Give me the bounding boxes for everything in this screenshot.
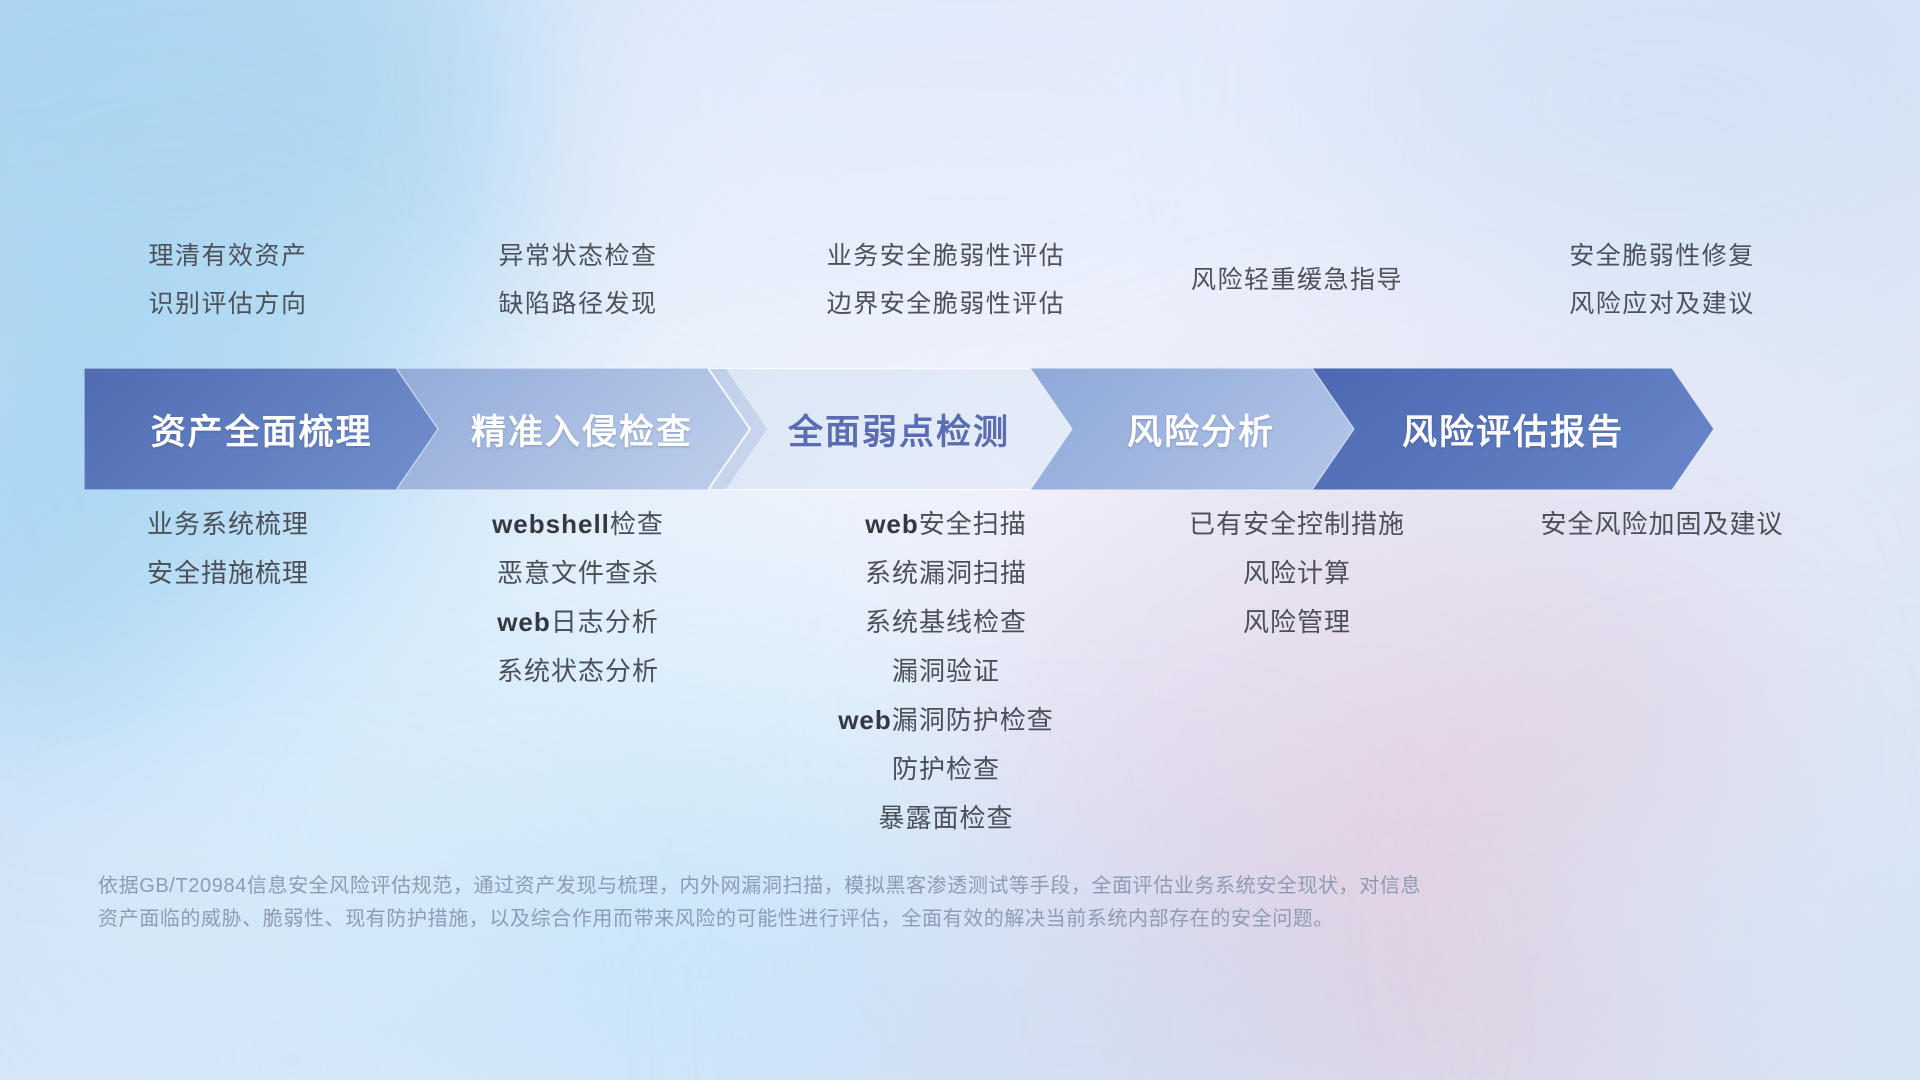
stage-label-report: 风险评估报告 — [1402, 404, 1624, 455]
detail-item: 防护检查 — [686, 745, 1206, 794]
footer-line-1: 依据GB/T20984信息安全风险评估规范，通过资产发现与梳理，内外网漏洞扫描，… — [98, 870, 1658, 903]
top-caption-line: 风险应对及建议 — [1402, 280, 1920, 328]
detail-list-report: 安全风险加固及建议 — [1402, 500, 1920, 549]
process-diagram: 理清有效资产识别评估方向异常状态检查缺陷路径发现业务安全脆弱性评估边界安全脆弱性… — [0, 0, 1920, 1080]
detail-item-text: 日志分析 — [551, 607, 659, 637]
detail-item: 漏洞验证 — [686, 647, 1206, 696]
top-caption-line: 安全脆弱性修复 — [1402, 232, 1920, 280]
detail-item-prefix: web — [865, 509, 919, 539]
detail-item-prefix: web — [838, 705, 892, 735]
stage-label-asset: 资产全面梳理 — [151, 404, 373, 455]
detail-item-text: 检查 — [610, 509, 664, 539]
stage-chevron-report[interactable]: 风险评估报告 — [1312, 368, 1714, 490]
stage-label-risk-analysis: 风险分析 — [1127, 404, 1275, 455]
stage-chevron-band: 资产全面梳理精准入侵检查全面弱点检测风险分析风险评估报告 — [0, 368, 1920, 490]
detail-item: 风险计算 — [1037, 549, 1557, 598]
footer-description: 依据GB/T20984信息安全风险评估规范，通过资产发现与梳理，内外网漏洞扫描，… — [98, 870, 1658, 936]
footer-line-2: 资产面临的威胁、脆弱性、现有防护措施，以及综合作用而带来风险的可能性进行评估，全… — [98, 903, 1658, 936]
stage-label-weakness: 全面弱点检测 — [788, 404, 1010, 455]
detail-item: 风险管理 — [1037, 598, 1557, 647]
detail-item-prefix: web — [497, 607, 551, 637]
stage-label-intrusion: 精准入侵检查 — [471, 404, 693, 455]
detail-item: web漏洞防护检查 — [686, 696, 1206, 745]
detail-item-prefix: webshell — [492, 509, 610, 539]
top-caption-row: 理清有效资产识别评估方向异常状态检查缺陷路径发现业务安全脆弱性评估边界安全脆弱性… — [0, 232, 1920, 362]
detail-item-text: 安全扫描 — [919, 509, 1027, 539]
detail-item: 安全风险加固及建议 — [1402, 500, 1920, 549]
top-caption-group-report: 安全脆弱性修复风险应对及建议 — [1402, 232, 1920, 328]
detail-item: 暴露面检查 — [686, 794, 1206, 843]
detail-item-text: 漏洞防护检查 — [892, 705, 1054, 735]
